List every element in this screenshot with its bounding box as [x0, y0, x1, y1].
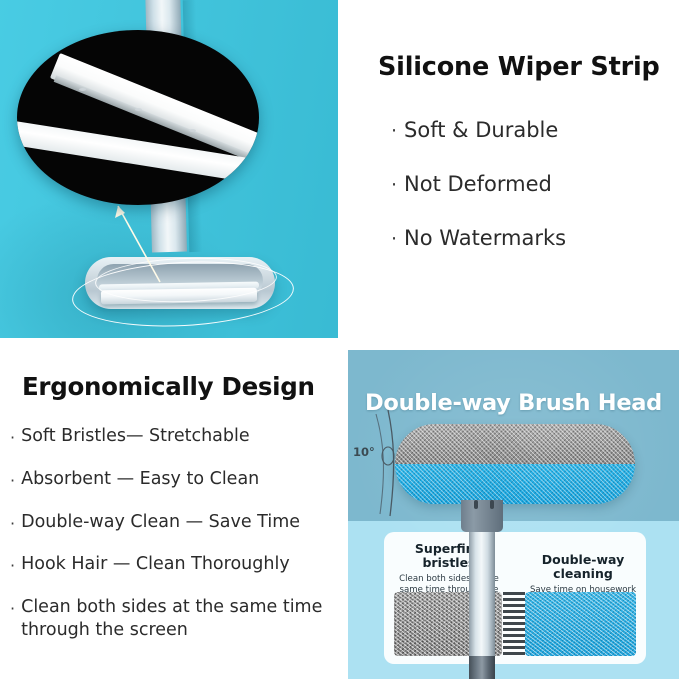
zoom-callout-oval	[17, 30, 259, 205]
list-item: · Soft & Durable	[391, 118, 671, 142]
bullet-text: Absorbent — Easy to Clean	[21, 468, 259, 491]
bullet-dot-icon: ·	[10, 558, 15, 574]
neck-slot	[490, 500, 494, 509]
texture-swatch-seam	[503, 592, 525, 656]
feature-title: Double-way cleaning	[524, 553, 642, 582]
bullet-text: Double-way Clean — Save Time	[21, 511, 300, 534]
strip-detail-dot	[79, 88, 86, 91]
bullet-list-ergo: · Soft Bristles— Stretchable · Absorbent…	[10, 425, 338, 662]
strip-detail-dot	[135, 108, 142, 111]
panel-ergonomic-design-text: Ergonomically Design · Soft Bristles— St…	[0, 350, 338, 679]
texture-swatch-blue	[525, 592, 636, 656]
brush-neck-connector	[461, 500, 503, 532]
infographic-board: Silicone Wiper Strip · Soft & Durable · …	[0, 0, 679, 679]
list-item: · No Watermarks	[391, 226, 671, 250]
brush-head-pad	[395, 424, 635, 504]
bullet-text: Soft & Durable	[404, 118, 558, 142]
list-item: · Absorbent — Easy to Clean	[10, 468, 338, 491]
bullet-list-wiper: · Soft & Durable · Not Deformed · No Wat…	[391, 118, 671, 280]
bristle-side-gray	[395, 424, 635, 464]
list-item: · Hook Hair — Clean Thoroughly	[10, 553, 338, 576]
strip-detail-dot	[189, 129, 196, 132]
bullet-text: Clean both sides at the same time throug…	[21, 596, 338, 642]
bullet-dot-icon: ·	[10, 473, 15, 489]
panel-double-way-brush-head: Double-way Brush Head 10° Superfine bris…	[348, 350, 679, 679]
bullet-dot-icon: ·	[391, 230, 397, 249]
bullet-dot-icon: ·	[10, 430, 15, 446]
feature-caption-cleaning: Double-way cleaning Save time on housewo…	[524, 553, 642, 596]
bullet-dot-icon: ·	[10, 601, 15, 617]
list-item: · Clean both sides at the same time thro…	[10, 596, 338, 642]
bullet-text: Soft Bristles— Stretchable	[21, 425, 250, 448]
panel-silicone-wiper-photo	[0, 0, 338, 338]
panel-silicone-wiper-text: Silicone Wiper Strip · Soft & Durable · …	[348, 0, 679, 338]
bullet-text: No Watermarks	[404, 226, 566, 250]
heading-silicone-wiper-strip: Silicone Wiper Strip	[378, 52, 660, 82]
bullet-text: Hook Hair — Clean Thoroughly	[21, 553, 290, 576]
heading-ergonomically-design: Ergonomically Design	[22, 372, 315, 401]
bullet-dot-icon: ·	[391, 176, 397, 195]
brush-head-graphic	[395, 424, 635, 504]
neck-slot	[474, 500, 478, 509]
bullet-dot-icon: ·	[391, 122, 397, 141]
microfiber-side-blue	[395, 464, 635, 504]
list-item: · Soft Bristles— Stretchable	[10, 425, 338, 448]
bullet-dot-icon: ·	[10, 516, 15, 532]
list-item: · Not Deformed	[391, 172, 671, 196]
angle-label: 10°	[353, 445, 375, 459]
brush-handle-pole-lower	[469, 656, 495, 679]
bullet-text: Not Deformed	[404, 172, 552, 196]
list-item: · Double-way Clean — Save Time	[10, 511, 338, 534]
